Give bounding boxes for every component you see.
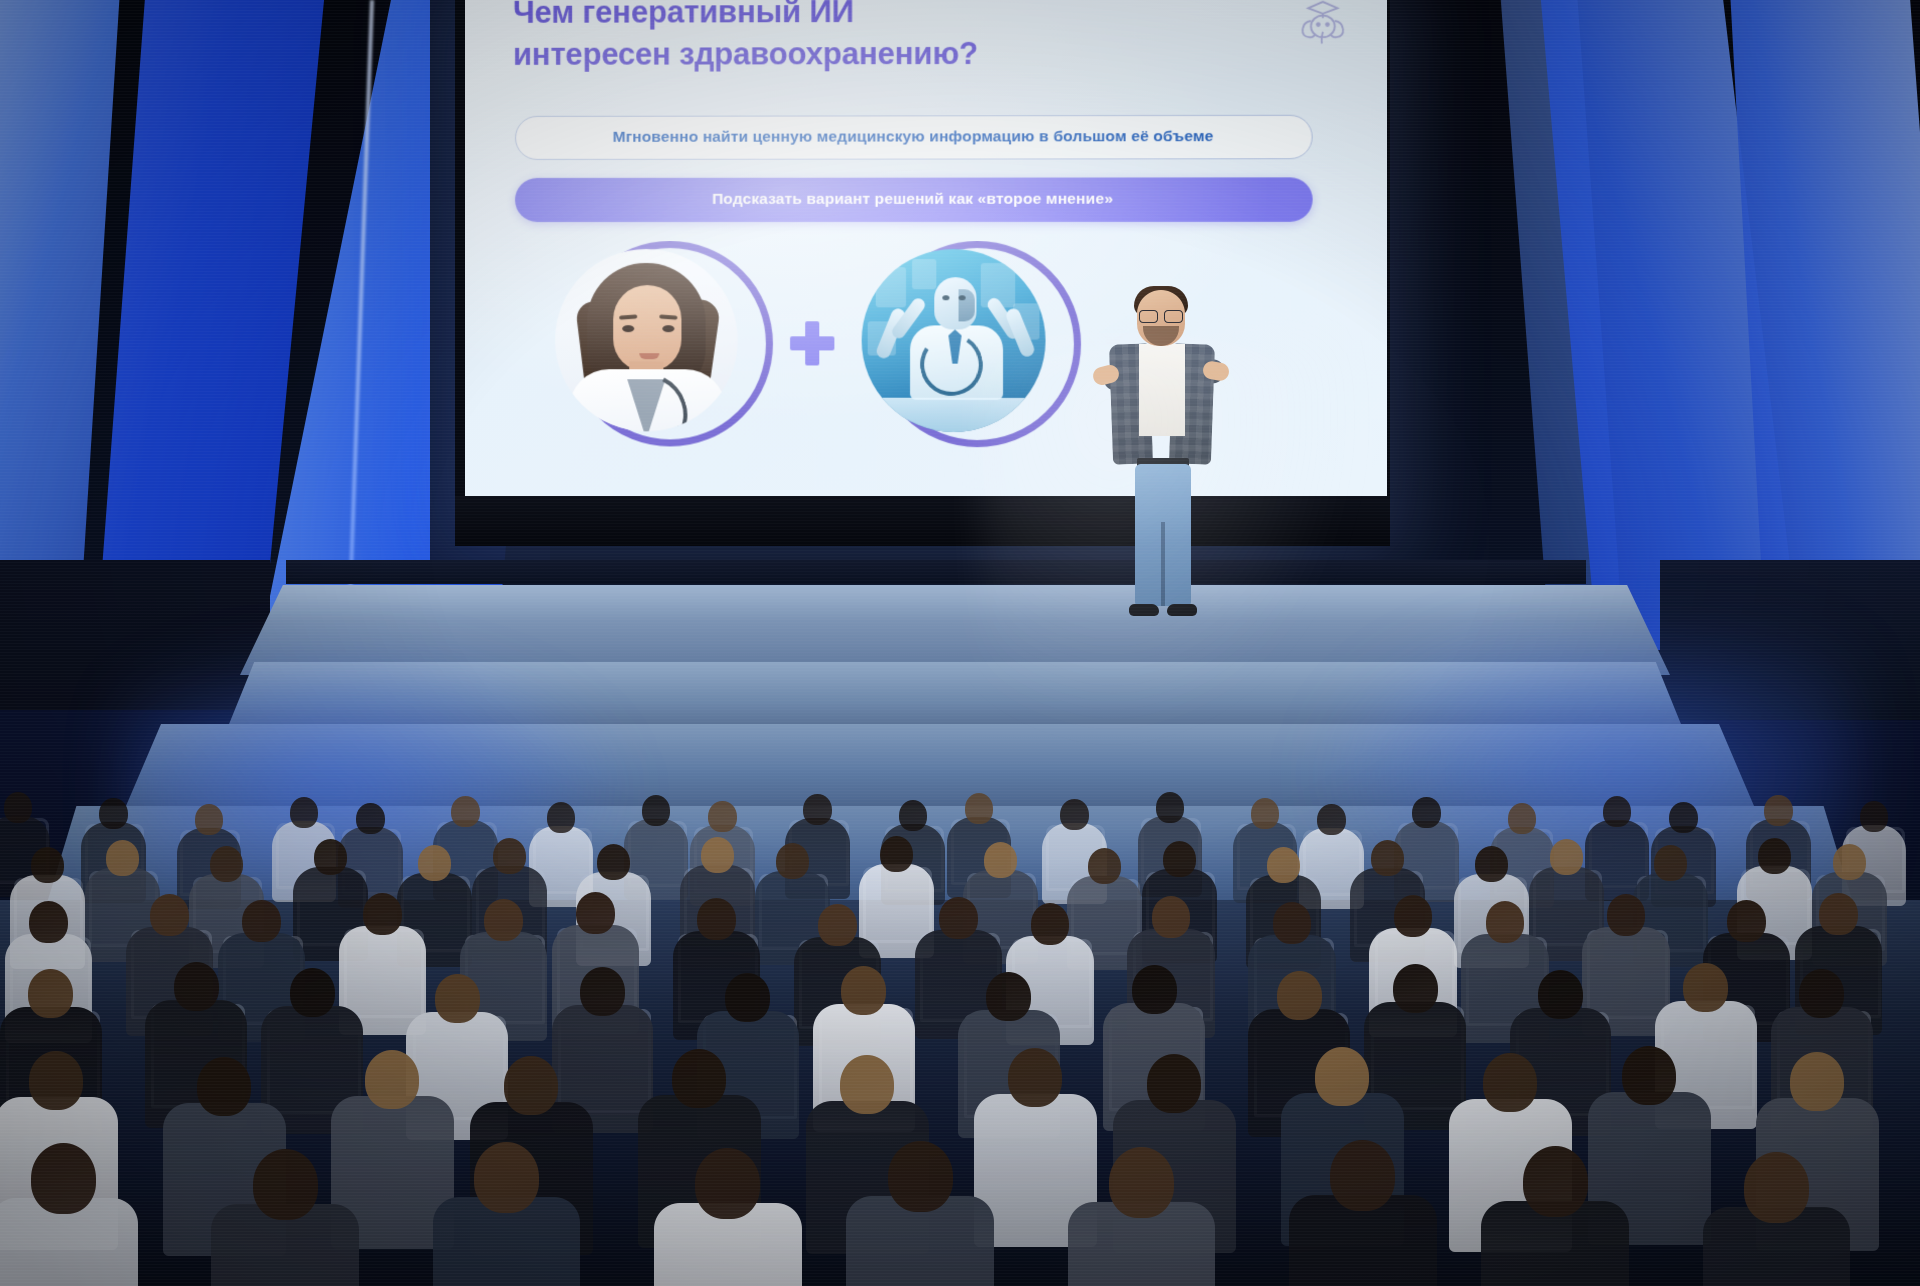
speaker-person [1095,290,1225,635]
screen-bottom-bezel [455,496,1390,546]
audience-person-head [965,793,994,824]
audience-person-head [106,840,139,876]
slide-title: Чем генеративный ИИ интересен здравоохра… [513,0,1036,76]
doctor-photo [555,249,738,432]
audience-person-head [1147,1054,1201,1113]
audience-person-head [174,962,219,1011]
audience-person-head [99,798,128,829]
audience-person-head [695,1148,760,1219]
audience-person-head [242,900,281,942]
audience-person-head [1371,840,1404,876]
audience-person-head [1132,965,1177,1014]
audience-person-head [1163,841,1196,877]
audience-person-head [356,803,385,834]
audience-person-head [1394,895,1433,937]
audience-person-head [28,969,73,1018]
slide-robot-image [862,241,1069,447]
audience-person-head [776,843,809,879]
audience-person-head [939,897,978,939]
audience-person-head [803,794,832,825]
audience-person-head [451,796,480,827]
audience-person-head [1273,902,1312,944]
audience-person-head [708,801,737,832]
audience-person-head [31,1143,96,1214]
audience-person-head [1152,896,1191,938]
audience-person-head [818,904,857,946]
audience-person-head [365,1050,419,1109]
audience-person-head [1277,971,1322,1020]
audience-person-head [1790,1052,1844,1111]
audience-person-head [197,1057,251,1116]
audience-person-head [1727,900,1766,942]
audience-person-head [1523,1146,1588,1217]
slide-bullet-1: Мгновенно найти ценную медицинскую инфор… [515,115,1313,160]
audience-person-head [484,899,523,941]
audience-person-head [580,967,625,1016]
audience-person-head [1412,797,1441,828]
audience-person-head [841,966,886,1015]
audience-person-head [1156,792,1185,823]
audience-person-head [1508,803,1537,834]
audience-person-head [576,892,615,934]
audience-person-head [1486,901,1525,943]
audience-person-head [1758,838,1791,874]
audience-person-head [986,972,1031,1021]
audience-person-head [1330,1140,1395,1211]
audience-person-head [1538,970,1583,1019]
audience-person-head [1669,802,1698,833]
audience-person-head [697,898,736,940]
slide-title-line-2: интересен здравоохранению? [513,33,1036,76]
audience-seating [0,780,1920,1286]
audience-person-head [195,804,224,835]
conference-photo-scene: Чем генеративный ИИ интересен здравоохра… [0,0,1920,1286]
presentation-slide: Чем генеративный ИИ интересен здравоохра… [465,0,1387,505]
screen-ledge [286,560,1586,584]
audience-person-head [880,836,913,872]
audience-person-head [1475,846,1508,882]
audience-person-head [1317,804,1346,835]
audience-person-head [29,1051,83,1110]
audience-person-head [210,846,243,882]
projection-screen: Чем генеративный ИИ интересен здравоохра… [455,0,1390,546]
audience-person-head [4,792,33,823]
audience-person-head [1860,801,1889,832]
audience-person-head [547,802,576,833]
audience-person-head [1654,845,1687,881]
audience-person-head [29,901,68,943]
audience-person-head [1267,847,1300,883]
audience-person-head [899,800,928,831]
audience-person-head [840,1055,894,1114]
audience-person-head [888,1141,953,1212]
audience-person-head [474,1142,539,1213]
audience-person-head [1744,1152,1809,1223]
audience-person-head [31,847,64,883]
robot-photo [862,249,1046,432]
audience-person-head [1799,969,1844,1018]
medical-cross-icon [790,321,834,365]
audience-person-head [672,1049,726,1108]
audience-person-head [1683,963,1728,1012]
audience-person-head [597,844,630,880]
audience-person-head [435,974,480,1023]
audience-person-head [1764,795,1793,826]
audience-person-head [1833,844,1866,880]
audience-person-head [1251,798,1280,829]
audience-person-head [150,894,189,936]
audience-person-head [290,968,335,1017]
slide-doctor-image [555,241,761,447]
audience-person-head [1088,848,1121,884]
audience-person-head [984,842,1017,878]
audience-person-head [1060,799,1089,830]
elephant-graduate-logo-icon [1295,0,1350,48]
audience-person-head [1819,893,1858,935]
audience-person-head [1622,1046,1676,1105]
audience-person-head [1315,1047,1369,1106]
audience-person-head [1031,903,1070,945]
audience-person-head [1607,894,1646,936]
audience-person-head [1483,1053,1537,1112]
audience-person-head [504,1056,558,1115]
slide-title-line-1: Чем генеративный ИИ [513,0,1036,34]
audience-person-head [253,1149,318,1220]
audience-person-head [725,973,770,1022]
audience-person-head [418,845,451,881]
audience-person-head [314,839,347,875]
audience-person-head [363,893,402,935]
audience-person-head [642,795,671,826]
audience-person-head [1109,1147,1174,1218]
audience-person-head [1550,839,1583,875]
eyeglasses-icon [1139,310,1183,321]
audience-person-head [290,797,319,828]
audience-person-head [1393,964,1438,1013]
audience-person-head [1603,796,1632,827]
audience-person-head [493,838,526,874]
audience-person-head [701,837,734,873]
audience-person-head [1008,1048,1062,1107]
slide-bullet-2: Подсказать вариант решений как «второе м… [515,177,1313,222]
